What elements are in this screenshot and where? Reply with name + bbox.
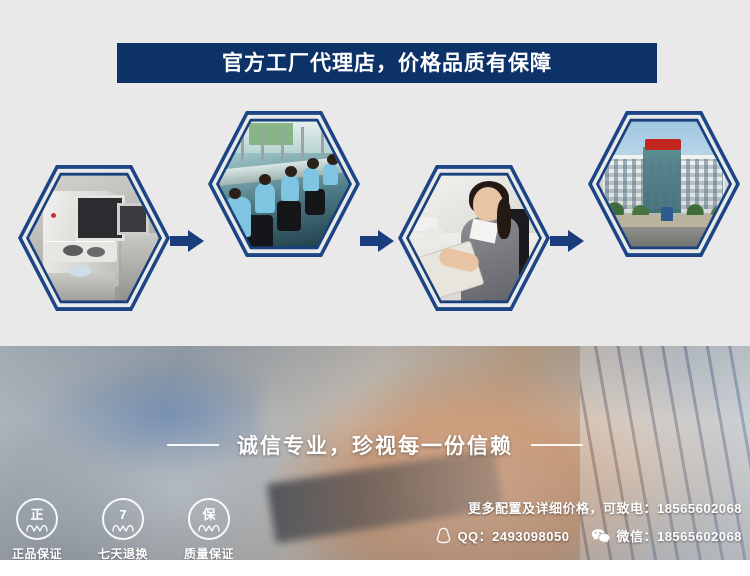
qq-penguin-icon (436, 527, 451, 544)
process-flow (0, 100, 750, 330)
header-title-bar: 官方工厂代理店，价格品质有保障 (117, 43, 657, 83)
slogan-row: 诚信专业，珍视每一份信赖 (0, 430, 750, 460)
arrow-1-icon (170, 230, 204, 252)
slogan-text: 诚信专业，珍视每一份信赖 (237, 430, 513, 460)
seven-day-return-badge-icon: 7 (102, 498, 144, 540)
authentic-badge-icon: 正 (16, 498, 58, 540)
process-step-service (398, 162, 550, 314)
contact-block: 更多配置及详细价格，可致电：18565602068 QQ：2493098050 (436, 498, 742, 545)
process-step-building (588, 108, 740, 260)
quality-badge-icon: 保 (188, 498, 230, 540)
badge-label: 正品保证 (12, 545, 62, 560)
hands-icon (26, 522, 48, 532)
badge-glyph: 7 (119, 508, 126, 521)
im-contact-row: QQ：2493098050 微信：18565602068 (436, 526, 742, 545)
badge-quality: 保 质量保证 (178, 498, 240, 560)
badge-glyph: 正 (30, 508, 43, 521)
wechat-number-text: 微信：18565602068 (616, 526, 742, 545)
hands-icon (112, 522, 134, 532)
bottom-white-strip (0, 560, 750, 576)
top-section: 官方工厂代理店，价格品质有保障 (0, 0, 750, 346)
handshake-banner: 诚信专业，珍视每一份信赖 正 正品保证 7 (0, 346, 750, 560)
badge-authentic: 正 正品保证 (6, 498, 68, 560)
page-title: 官方工厂代理店，价格品质有保障 (222, 53, 552, 74)
badge-label: 七天退换 (98, 545, 148, 560)
process-step-equipment (18, 162, 170, 314)
promo-page: 官方工厂代理店，价格品质有保障 (0, 0, 750, 576)
hands-icon (198, 522, 220, 532)
badge-seven-day-return: 7 七天退换 (92, 498, 154, 560)
slogan-divider-left (167, 444, 219, 446)
qq-number-text: QQ：2493098050 (457, 526, 569, 545)
phone-contact-text: 更多配置及详细价格，可致电：18565602068 (436, 498, 742, 517)
badge-glyph: 保 (202, 508, 215, 521)
guarantee-badges: 正 正品保证 7 七 (6, 498, 240, 560)
badge-label: 质量保证 (184, 545, 234, 560)
process-step-factory (208, 108, 360, 260)
slogan-divider-right (531, 444, 583, 446)
wechat-icon (591, 528, 610, 544)
arrow-3-icon (550, 230, 584, 252)
arrow-2-icon (360, 230, 394, 252)
